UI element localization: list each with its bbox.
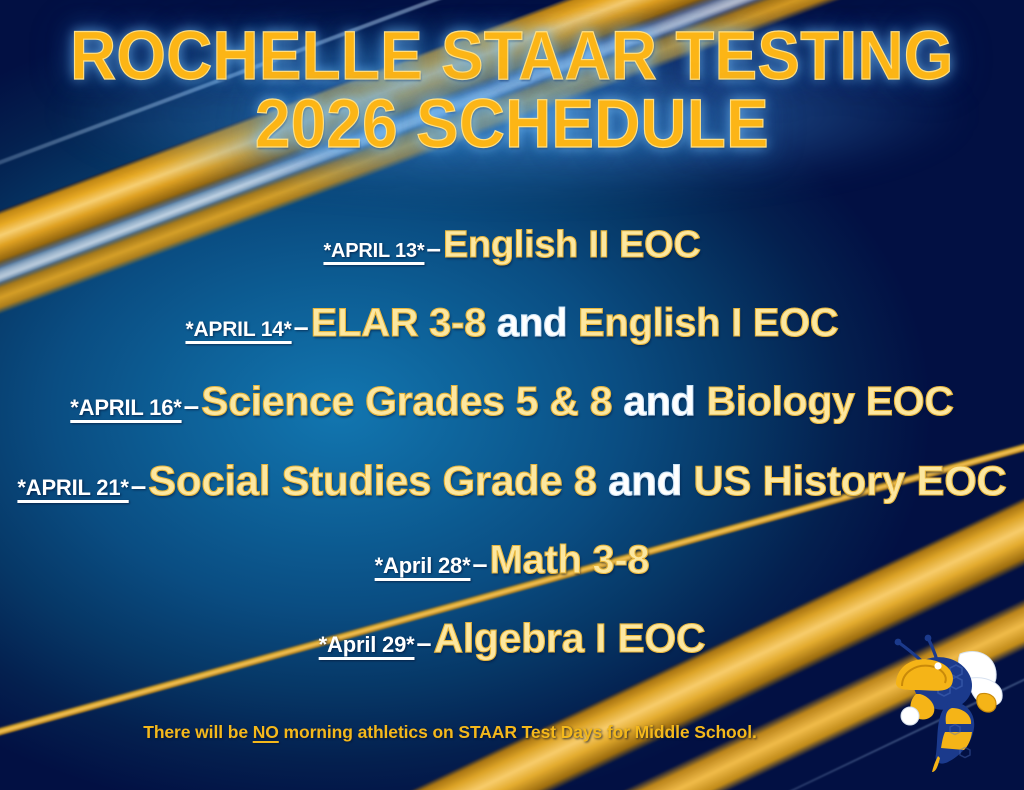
schedule-dash: – xyxy=(470,549,489,579)
schedule-date: *April 28* xyxy=(375,553,471,578)
schedule-row: *APRIL 13*–English II EOC xyxy=(0,226,1024,264)
schedule-dash: – xyxy=(129,470,149,501)
schedule-date: *APRIL 21* xyxy=(17,475,128,500)
schedule-subject: ELAR 3-8 and English I EOC xyxy=(311,301,839,345)
schedule-subject: English II EOC xyxy=(443,224,701,266)
staar-schedule-poster: ROCHELLE STAAR TESTING 2026 SCHEDULE *AP… xyxy=(0,0,1024,790)
schedule-row: *April 28*–Math 3-8 xyxy=(0,540,1024,580)
subject-segment: and xyxy=(597,457,694,504)
schedule-dash: – xyxy=(292,312,311,342)
schedule-dash: – xyxy=(415,628,434,658)
schedule-dash: – xyxy=(182,390,202,421)
subject-segment: US History EOC xyxy=(693,457,1006,504)
subject-segment: English II EOC xyxy=(443,224,701,266)
schedule-date: *April 29* xyxy=(319,632,415,657)
schedule-dash: – xyxy=(424,233,442,263)
schedule-subject: Science Grades 5 & 8 and Biology EOC xyxy=(201,378,954,424)
schedule-row: *APRIL 16*–Science Grades 5 & 8 and Biol… xyxy=(0,381,1024,422)
subject-segment: Social Studies Grade 8 xyxy=(148,457,597,504)
schedule-date: *APRIL 13* xyxy=(323,240,424,262)
footer-emphasis: NO xyxy=(253,722,279,742)
subject-segment: and xyxy=(612,378,706,424)
subject-segment: ELAR 3-8 xyxy=(311,301,486,345)
subject-segment: Biology EOC xyxy=(706,378,953,424)
schedule-subject: Math 3-8 xyxy=(490,538,650,582)
hornet-mascot-icon xyxy=(876,632,1016,772)
schedule-list: *APRIL 13*–English II EOC *APRIL 14*–ELA… xyxy=(0,226,1024,659)
schedule-row: *APRIL 14*–ELAR 3-8 and English I EOC xyxy=(0,303,1024,343)
subject-segment: Science Grades 5 & 8 xyxy=(201,378,612,424)
schedule-row: *April 29*–Algebra I EOC xyxy=(0,618,1024,659)
schedule-date: *APRIL 14* xyxy=(185,318,291,341)
schedule-subject: Algebra I EOC xyxy=(434,615,706,661)
schedule-date: *APRIL 16* xyxy=(70,395,181,420)
footer-after: morning athletics on STAAR Test Days for… xyxy=(279,722,757,742)
footer-note: There will be NO morning athletics on ST… xyxy=(0,722,900,743)
subject-segment: and xyxy=(486,301,578,345)
footer-before: There will be xyxy=(143,722,252,742)
schedule-row: *APRIL 21*–Social Studies Grade 8 and US… xyxy=(0,460,1024,502)
poster-title: ROCHELLE STAAR TESTING 2026 SCHEDULE xyxy=(0,22,1024,157)
schedule-subject: Social Studies Grade 8 and US History EO… xyxy=(148,457,1006,504)
subject-segment: Math 3-8 xyxy=(490,538,650,582)
subject-segment: Algebra I EOC xyxy=(434,615,706,661)
subject-segment: English I EOC xyxy=(578,301,839,345)
title-line-1: ROCHELLE STAAR TESTING xyxy=(41,22,983,90)
title-line-2: 2026 SCHEDULE xyxy=(41,90,983,158)
